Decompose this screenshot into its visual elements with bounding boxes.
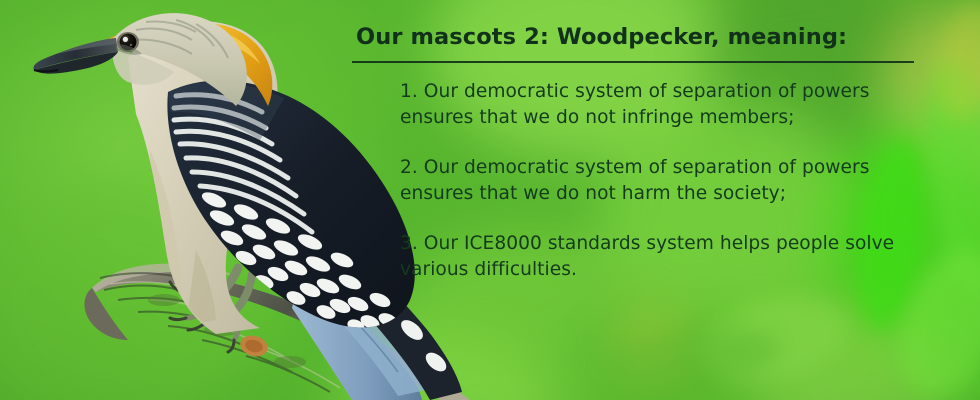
list-item: 2. Our democratic system of separation o… <box>400 155 930 207</box>
meaning-list: 1. Our democratic system of separation o… <box>352 63 932 283</box>
list-item: 1. Our democratic system of separation o… <box>400 79 930 131</box>
page-title: Our mascots 2: Woodpecker, meaning: <box>352 22 932 52</box>
mascot-banner: Our mascots 2: Woodpecker, meaning: 1. O… <box>0 0 980 400</box>
title-divider <box>352 61 914 63</box>
bill <box>34 38 119 74</box>
list-item: 3. Our ICE8000 standards system helps pe… <box>400 231 930 283</box>
text-panel: Our mascots 2: Woodpecker, meaning: 1. O… <box>352 22 932 283</box>
